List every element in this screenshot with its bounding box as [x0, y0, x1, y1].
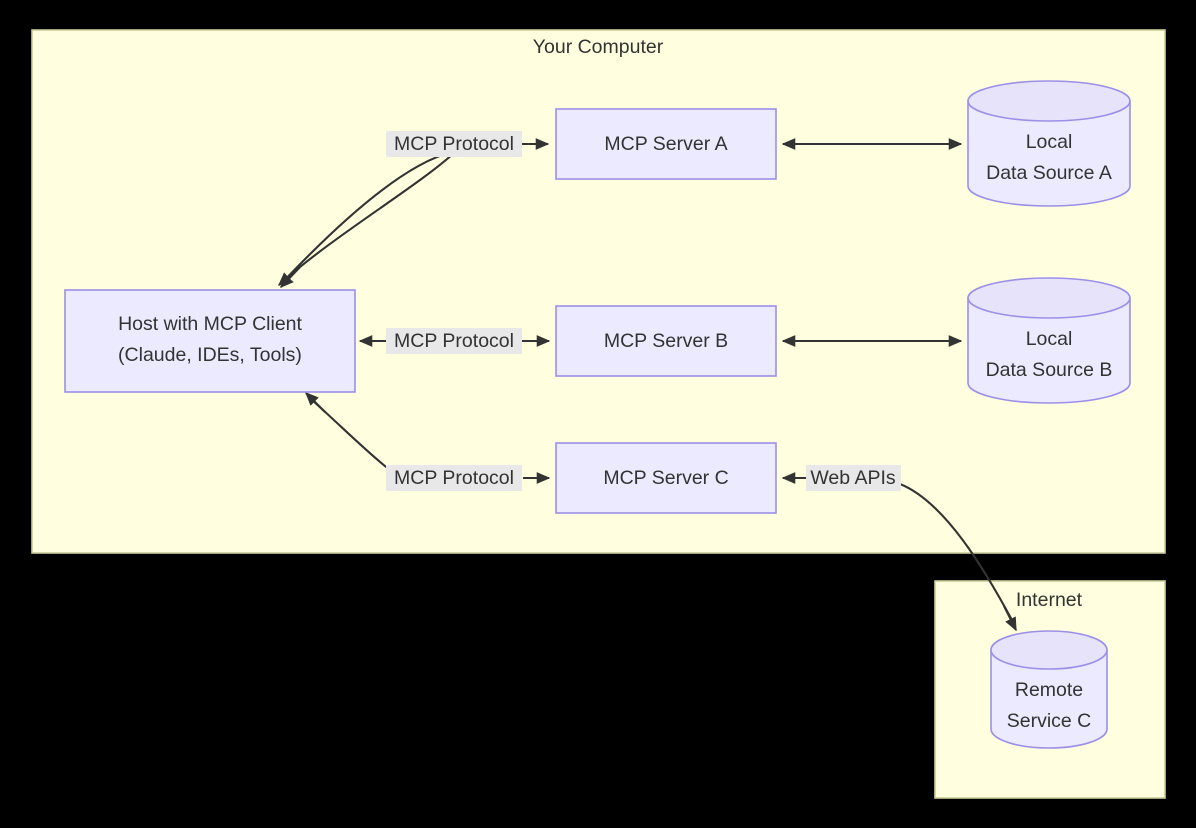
- remote-service-c-label-line2: Service C: [1007, 710, 1092, 732]
- mcp-server-b-label: MCP Server B: [604, 330, 728, 352]
- node-remote-service-c[interactable]: Remote Service C: [991, 631, 1107, 748]
- mcp-architecture-diagram: Your Computer Internet: [0, 0, 1196, 828]
- host-box[interactable]: [65, 290, 355, 392]
- host-label-line1: Host with MCP Client: [118, 313, 302, 335]
- edge-label-mcp-protocol-b-text: MCP Protocol: [394, 330, 514, 352]
- edge-label-mcp-protocol-b: MCP Protocol: [386, 328, 522, 354]
- node-host-with-mcp-client[interactable]: Host with MCP Client (Claude, IDEs, Tool…: [65, 290, 355, 392]
- data-source-a-top[interactable]: [968, 81, 1130, 121]
- edge-label-mcp-protocol-c-text: MCP Protocol: [394, 467, 514, 489]
- host-label-line2: (Claude, IDEs, Tools): [118, 344, 302, 366]
- node-mcp-server-a[interactable]: MCP Server A: [556, 109, 776, 179]
- node-mcp-server-c[interactable]: MCP Server C: [556, 443, 776, 513]
- mcp-server-a-label: MCP Server A: [604, 133, 727, 155]
- edge-label-web-apis-text: Web APIs: [810, 467, 896, 489]
- data-source-b-top[interactable]: [968, 278, 1130, 318]
- edge-label-web-apis: Web APIs: [806, 465, 901, 491]
- edge-label-mcp-protocol-c: MCP Protocol: [386, 465, 522, 491]
- data-source-a-label-line1: Local: [1026, 131, 1073, 153]
- node-local-data-source-b[interactable]: Local Data Source B: [968, 278, 1130, 403]
- diagram-canvas: Your Computer Internet: [0, 0, 1196, 828]
- node-local-data-source-a[interactable]: Local Data Source A: [968, 81, 1130, 206]
- node-mcp-server-b[interactable]: MCP Server B: [556, 306, 776, 376]
- data-source-b-label-line2: Data Source B: [986, 359, 1113, 381]
- mcp-server-c-label: MCP Server C: [603, 467, 728, 489]
- edge-label-mcp-protocol-a-text: MCP Protocol: [394, 133, 514, 155]
- data-source-a-label-line2: Data Source A: [986, 162, 1112, 184]
- data-source-b-label-line1: Local: [1026, 328, 1073, 350]
- internet-title: Internet: [1016, 589, 1083, 611]
- remote-service-c-label-line1: Remote: [1015, 679, 1083, 701]
- edge-label-mcp-protocol-a: MCP Protocol: [386, 131, 522, 157]
- remote-service-c-top[interactable]: [991, 631, 1107, 669]
- your-computer-title: Your Computer: [533, 36, 664, 58]
